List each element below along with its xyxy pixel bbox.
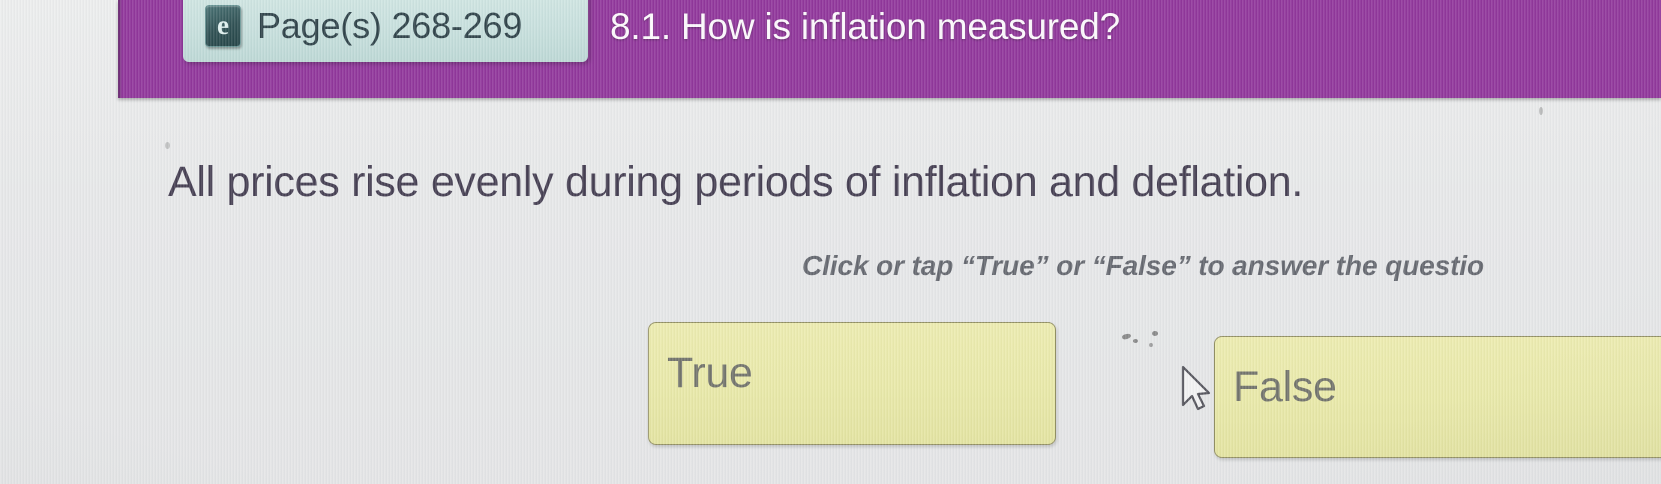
screen-photo: e Page(s) 268-269 8.1. How is inflation … (0, 0, 1661, 484)
screen-speck (1539, 107, 1543, 115)
header-left-edge-shadow (118, 0, 122, 98)
question-statement: All prices rise evenly during periods of… (168, 158, 1303, 207)
answer-button-true[interactable]: True (648, 322, 1056, 445)
answer-instruction: Click or tap “True” or “False” to answer… (802, 250, 1484, 282)
mouse-cursor-icon (1180, 365, 1214, 411)
ebook-icon: e (205, 5, 241, 47)
page-reference-tab[interactable]: e Page(s) 268-269 (183, 0, 588, 62)
question-title: 8.1. How is inflation measured? (610, 6, 1120, 48)
answer-button-false[interactable]: False (1214, 336, 1661, 458)
screen-speck (1152, 331, 1158, 336)
page-reference-label: Page(s) 268-269 (257, 5, 522, 47)
screen-speck (165, 142, 170, 149)
answer-button-false-label: False (1233, 363, 1337, 412)
screen-speck (1149, 343, 1153, 347)
answer-button-true-label: True (667, 349, 753, 398)
screen-speck (1133, 339, 1138, 343)
